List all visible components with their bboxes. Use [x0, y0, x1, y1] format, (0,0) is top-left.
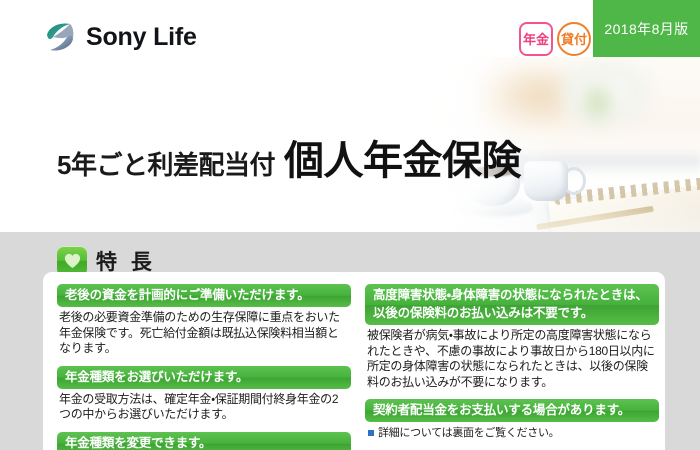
title-main: 個人年金保険	[284, 128, 521, 186]
loan-badge[interactable]: 貸付	[557, 22, 591, 56]
sony-life-swirl-icon	[43, 20, 77, 54]
photo-bottom-fade	[428, 198, 700, 232]
brand-logo: Sony Life	[43, 20, 197, 54]
feature-block: 年金種類をお選びいただけます。 年金の受取方法は、確定年金・保証期間付終身年金の…	[57, 366, 351, 423]
feature-block: 契約者配当金をお支払いする場合があります。 詳細については裏面をご覧ください。	[365, 399, 659, 440]
note-bullet-icon	[368, 430, 374, 436]
header-badges: 年金 貸付	[519, 22, 591, 56]
feature-block: 高度障害状態・身体障害の状態になられたときは、 以後の保険料のお払い込みは不要で…	[365, 284, 659, 390]
features-card: 老後の資金を計画的にご準備いただけます。 老後の必要資金準備のための生存保障に重…	[43, 272, 665, 450]
feature-header: 年金種類を変更できます。	[57, 432, 351, 450]
features-left-column: 老後の資金を計画的にご準備いただけます。 老後の必要資金準備のための生存保障に重…	[57, 284, 351, 450]
feature-header-line1: 高度障害状態・身体障害の状態になられたときは、	[373, 288, 648, 302]
page-title: 5年ごと利差配当付 個人年金保険	[57, 128, 521, 186]
feature-block: 年金種類を変更できます。 詳細については裏面をご覧ください。	[57, 432, 351, 450]
title-prefix: 5年ごと利差配当付	[57, 145, 275, 182]
note-text: 詳細については裏面をご覧ください。	[378, 426, 559, 440]
feature-note: 詳細については裏面をご覧ください。	[365, 422, 659, 440]
photo-blur-blob	[578, 79, 618, 125]
brand-name: Sony Life	[86, 25, 197, 50]
features-columns: 老後の資金を計画的にご準備いただけます。 老後の必要資金準備のための生存保障に重…	[43, 272, 665, 450]
feature-block: 老後の資金を計画的にご準備いただけます。 老後の必要資金準備のための生存保障に重…	[57, 284, 351, 357]
photo-creamer-handle	[562, 167, 586, 195]
features-right-column: 高度障害状態・身体障害の状態になられたときは、 以後の保険料のお払い込みは不要で…	[365, 284, 659, 450]
brochure-page: Sony Life 年金 貸付 2018年8月版 5年ごと利差配当付 個人年金保…	[0, 0, 700, 450]
feature-header: 契約者配当金をお支払いする場合があります。	[365, 399, 659, 422]
feature-header: 高度障害状態・身体障害の状態になられたときは、 以後の保険料のお払い込みは不要で…	[365, 284, 659, 325]
feature-header-line2: 以後の保険料のお払い込みは不要です。	[373, 306, 593, 320]
feature-body: 老後の必要資金準備のための生存保障に重点をおいた年金保険です。死亡給付金額は既払…	[57, 307, 351, 357]
version-banner: 2018年8月版	[593, 0, 700, 57]
feature-body: 被保険者が病気・事故により所定の高度障害状態になられたときや、不慮の事故により事…	[365, 325, 659, 390]
pension-badge[interactable]: 年金	[519, 22, 553, 56]
header-band: Sony Life 年金 貸付 2018年8月版 5年ごと利差配当付 個人年金保…	[0, 0, 700, 232]
feature-body: 年金の受取方法は、確定年金・保証期間付終身年金の2つの中からお選びいただけます。	[57, 389, 351, 423]
feature-header: 老後の資金を計画的にご準備いただけます。	[57, 284, 351, 307]
feature-header: 年金種類をお選びいただけます。	[57, 366, 351, 389]
heart-glyph	[64, 253, 81, 269]
